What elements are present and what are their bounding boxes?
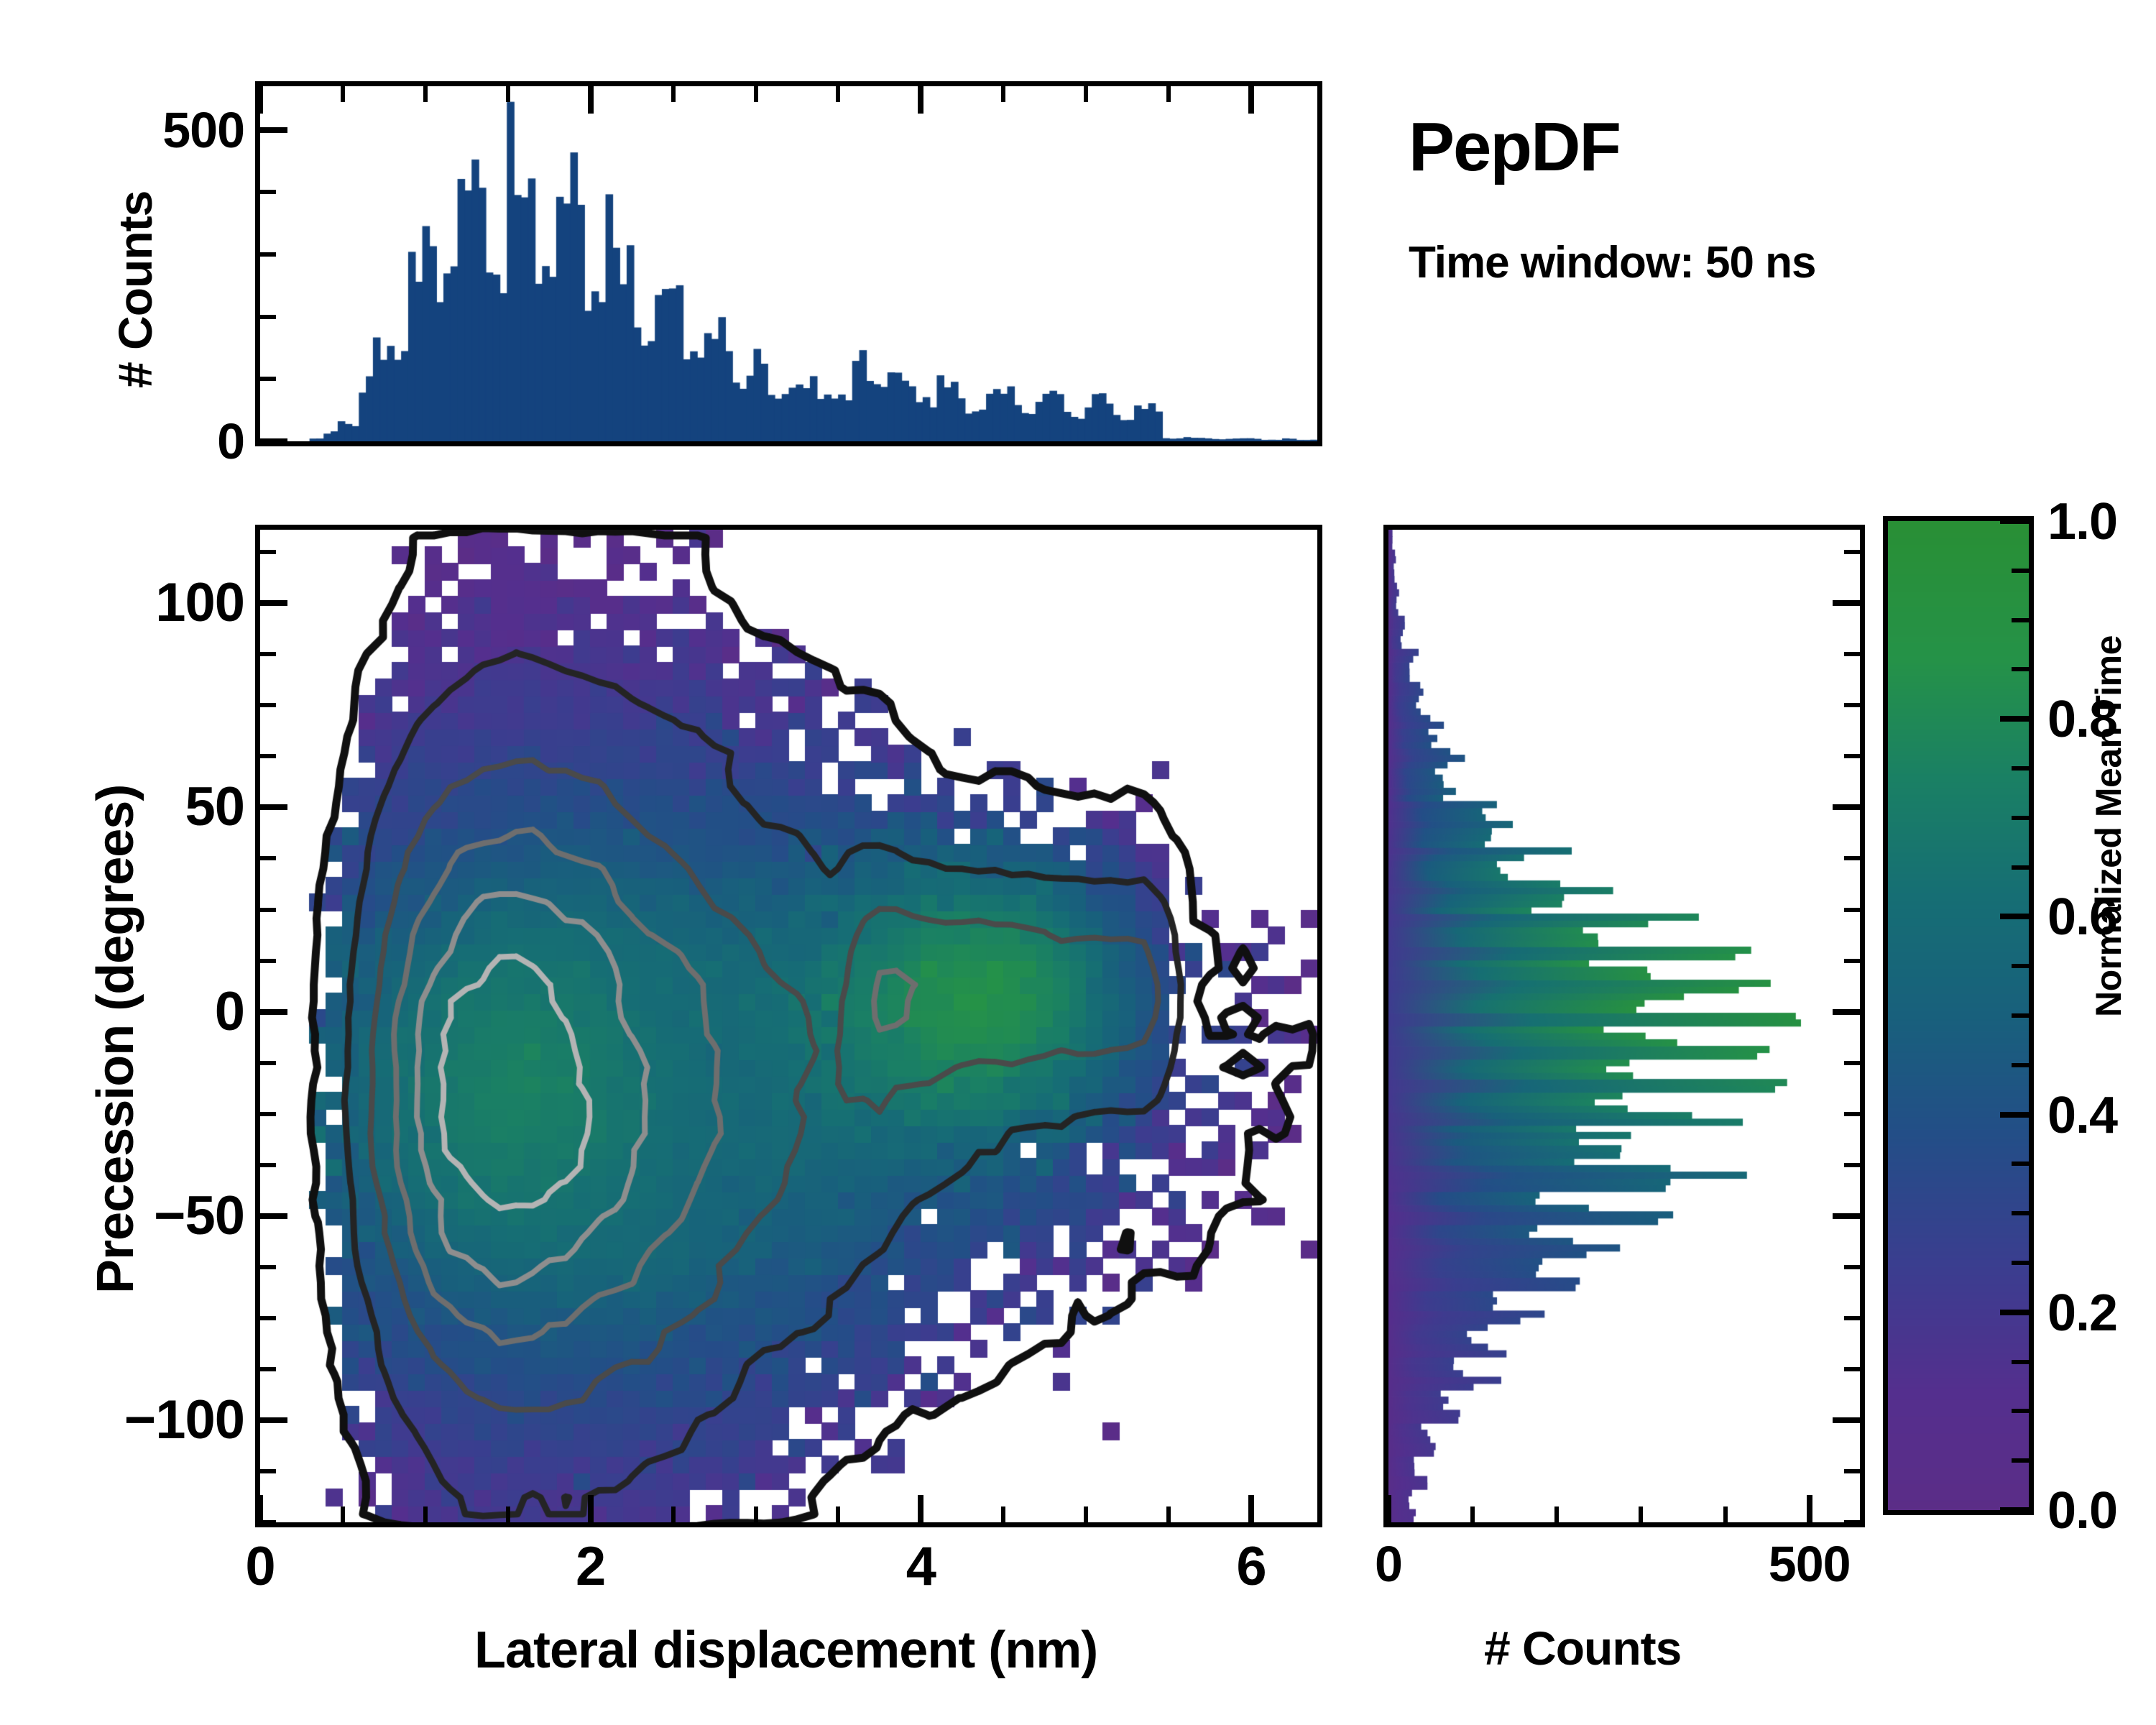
joint-ytick-major [260,600,287,606]
joint-ytick-minor [260,959,276,963]
top-xtick-minor [836,86,840,102]
right-ytick-minor [1844,652,1860,656]
joint-xtick-minor [1166,1506,1171,1522]
colorbar-ticklabel: 0.4 [2047,1086,2117,1145]
joint-xticklabel: 0 [245,1535,275,1598]
right-xtick-minor [1554,1506,1559,1522]
colorbar-tick-minor [2012,865,2029,870]
right-ytick-minor [1844,703,1860,707]
colorbar-tick-minor [2012,618,2029,622]
right-ytick-minor [1844,1112,1860,1116]
joint-xtick-minor [754,1506,758,1522]
joint-ytick-minor [260,652,276,656]
colorbar-tick-minor [2012,1013,2029,1018]
joint-ytick-minor [260,1316,276,1320]
joint-xtick-minor [506,1506,510,1522]
top-xtick-minor [1084,86,1088,102]
right-ytick-minor [1844,1469,1860,1473]
figure-canvas: PepDF Time window: 50 ns # Counts Preces… [0,0,2156,1725]
top-xtick-minor [1166,86,1171,102]
top-xtick-minor [506,86,510,102]
top-yticklabel: 0 [217,413,244,470]
right-xtick-major [1386,1495,1391,1522]
top-ytick-minor [260,315,276,319]
top-xtick-minor [341,86,345,102]
right-xtick-minor [1639,1506,1643,1522]
colorbar-ticklabel: 1.0 [2047,492,2117,551]
joint-ytick-minor [260,1112,276,1116]
right-xtick-minor [1470,1506,1475,1522]
joint-yticklabel: −100 [124,1389,244,1451]
joint-ytick-major [260,1213,287,1219]
colorbar-tick-minor [2012,1211,2029,1215]
joint-ytick-minor [260,1469,276,1473]
joint-xtick-minor [671,1506,676,1522]
colorbar-tick-major [2000,1507,2029,1513]
right-ytick-major [1833,804,1860,810]
joint-ytick-minor [260,1520,276,1524]
colorbar-tick-minor [2012,1161,2029,1166]
top-xtick-minor [671,86,676,102]
right-ytick-minor [1844,550,1860,554]
joint-xticklabel: 4 [906,1535,936,1598]
joint-ytick-minor [260,1163,276,1167]
top-xtick-major [918,86,923,114]
joint-xtick-minor [423,1506,428,1522]
joint-ytick-minor [260,1367,276,1371]
joint-xticklabel: 6 [1236,1535,1266,1598]
joint-yticklabel: 100 [155,571,244,634]
joint-ytick-minor [260,550,276,554]
colorbar-tick-minor [2012,569,2029,573]
colorbar-tick-minor [2012,1261,2029,1265]
joint-xtick-major [918,1495,923,1522]
joint-ytick-minor [260,908,276,912]
right-ytick-minor [1844,959,1860,963]
colorbar-tick-minor [2012,1360,2029,1364]
joint-xticklabel: 2 [576,1535,605,1598]
colorbar-ticklabel: 0.2 [2047,1284,2117,1343]
right-ytick-major [1833,1213,1860,1219]
right-ytick-minor [1844,1316,1860,1320]
right-ytick-major [1833,1417,1860,1423]
top-ytick-minor [260,190,276,194]
joint-ytick-minor [260,1061,276,1065]
joint-xtick-minor [1001,1506,1005,1522]
top-xtick-minor [754,86,758,102]
colorbar-tick-minor [2012,766,2029,770]
joint-xtick-minor [1084,1506,1088,1522]
colorbar-ticklabel: 0.8 [2047,690,2117,749]
joint-ytick-major [260,1417,287,1423]
right-ytick-major [1833,1009,1860,1015]
colorbar-tick-major [2000,1310,2029,1315]
right-ytick-minor [1844,1520,1860,1524]
colorbar-tick-minor [2012,1063,2029,1067]
joint-ytick-minor [260,1265,276,1269]
joint-ytick-minor [260,856,276,860]
colorbar-ticklabel: 0.6 [2047,888,2117,947]
top-xtick-minor [423,86,428,102]
right-ytick-minor [1844,1061,1860,1065]
joint-xtick-major [257,1495,263,1522]
top-ytick-major [260,127,287,133]
colorbar-tick-major [2000,914,2029,919]
colorbar-ticklabel: 0.0 [2047,1481,2117,1540]
joint-ytick-major [260,1009,287,1015]
joint-ytick-minor [260,754,276,758]
top-xtick-minor [1001,86,1005,102]
right-xticklabel: 500 [1769,1535,1851,1593]
right-xticklabel: 0 [1375,1535,1402,1593]
right-ytick-minor [1844,754,1860,758]
top-ytick-major [260,438,287,444]
colorbar-tick-major [2000,1112,2029,1118]
joint-ytick-minor [260,703,276,707]
right-ytick-minor [1844,856,1860,860]
top-ytick-minor [260,252,276,257]
joint-yticklabel: 0 [215,980,244,1043]
colorbar-tick-minor [2012,667,2029,671]
right-ytick-minor [1844,1163,1860,1167]
joint-xtick-major [1248,1495,1254,1522]
joint-ytick-major [260,804,287,810]
tick-layer: 0246−100−50050100050005000.00.20.40.60.8… [0,0,2156,1725]
top-xtick-major [257,86,263,114]
colorbar-tick-major [2000,716,2029,722]
right-ytick-major [1833,600,1860,606]
top-xtick-major [588,86,594,114]
colorbar-tick-minor [2012,964,2029,968]
colorbar-tick-major [2000,518,2029,524]
joint-yticklabel: −50 [154,1184,244,1247]
right-xtick-major [1807,1495,1812,1522]
right-ytick-minor [1844,1367,1860,1371]
right-xtick-minor [1723,1506,1728,1522]
colorbar-tick-minor [2012,816,2029,820]
colorbar-tick-minor [2012,1409,2029,1413]
colorbar-tick-minor [2012,1458,2029,1463]
right-ytick-minor [1844,1265,1860,1269]
joint-yticklabel: 50 [185,776,244,838]
top-ytick-minor [260,377,276,381]
top-yticklabel: 500 [162,101,244,159]
joint-xtick-minor [836,1506,840,1522]
joint-xtick-minor [341,1506,345,1522]
top-xtick-major [1248,86,1254,114]
right-ytick-minor [1844,908,1860,912]
joint-xtick-major [588,1495,594,1522]
